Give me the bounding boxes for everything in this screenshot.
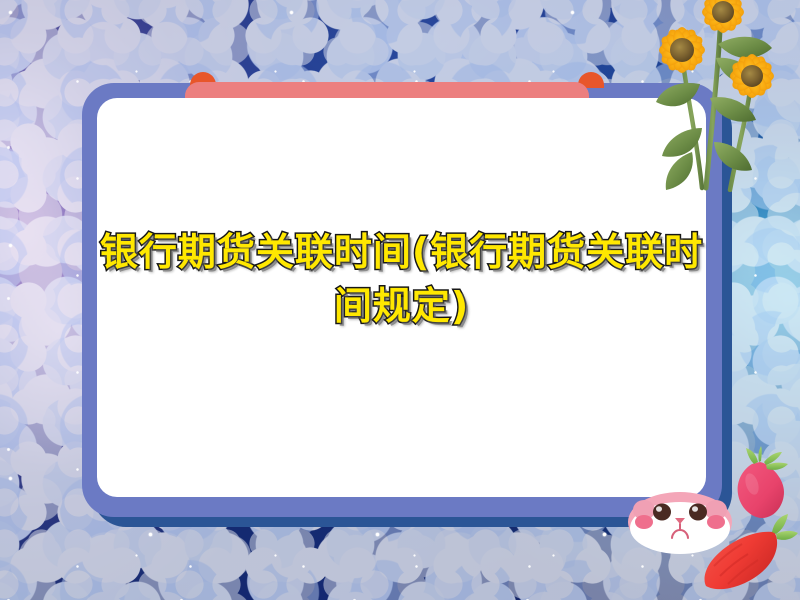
title-card-canvas: 银行期货关联时间(银行期货关联时间规定) — [0, 0, 800, 600]
page-title: 银行期货关联时间(银行期货关联时间规定) — [97, 225, 706, 333]
